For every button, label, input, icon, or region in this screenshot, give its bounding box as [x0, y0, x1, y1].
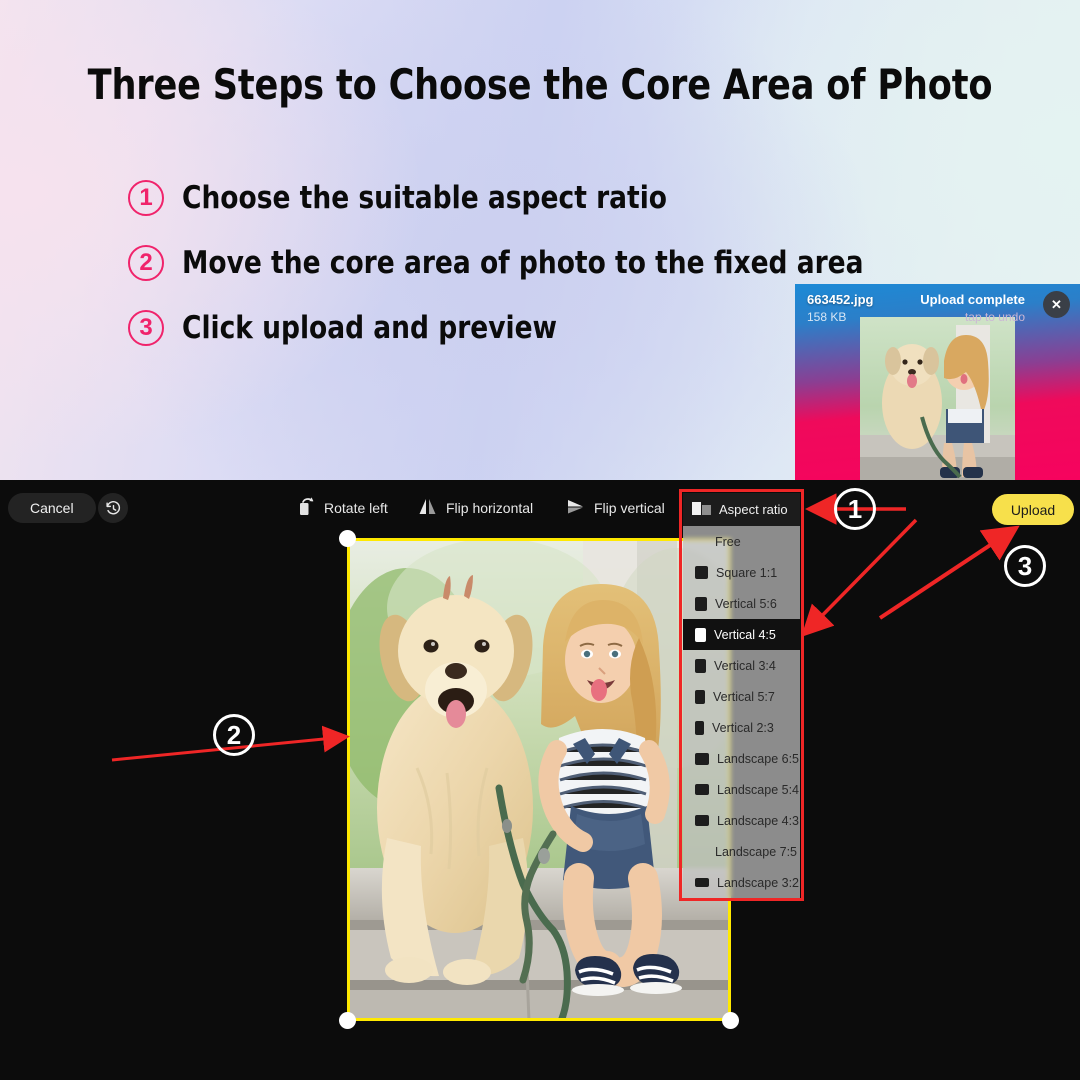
step-text: Move the core area of photo to the fixed…	[182, 245, 864, 281]
aspect-ratio-option[interactable]: Landscape 3:2	[683, 867, 800, 898]
flip-horizontal-button[interactable]: Flip horizontal	[418, 493, 533, 523]
step-text: Click upload and preview	[182, 310, 557, 346]
upload-filesize: 158 KB	[807, 310, 846, 324]
aspect-ratio-option[interactable]: Vertical 4:5	[683, 619, 800, 650]
aspect-ratio-icon	[692, 501, 711, 519]
aspect-ratio-option-label: Vertical 4:5	[714, 628, 776, 642]
instruction-step-1: 1 Choose the suitable aspect ratio	[128, 180, 693, 216]
instruction-step-2: 2 Move the core area of photo to the fix…	[128, 245, 899, 281]
aspect-ratio-option[interactable]: Landscape 4:3	[683, 805, 800, 836]
flip-horizontal-icon	[418, 497, 437, 519]
upload-status-text: Upload complete	[920, 292, 1025, 307]
aspect-ratio-option[interactable]: Landscape 7:5	[683, 836, 800, 867]
upload-preview-card[interactable]: 663452.jpg 158 KB Upload complete tap to…	[795, 284, 1080, 480]
aspect-ratio-shape-icon	[695, 784, 709, 795]
flip-vertical-icon	[566, 497, 585, 519]
aspect-ratio-option-label: Square 1:1	[716, 566, 777, 580]
crop-handle-top-left[interactable]	[339, 530, 356, 547]
aspect-ratio-shape-icon	[695, 753, 709, 765]
crop-handle-bottom-left[interactable]	[339, 1012, 356, 1029]
crop-area[interactable]	[347, 538, 731, 1021]
flip-vertical-button[interactable]: Flip vertical	[566, 493, 665, 523]
aspect-ratio-button-label: Aspect ratio	[719, 502, 788, 517]
rotate-left-button[interactable]: Rotate left	[298, 493, 388, 523]
aspect-ratio-button[interactable]: Aspect ratio	[683, 493, 800, 526]
cancel-button[interactable]: Cancel	[8, 493, 96, 523]
upload-preview-thumbnail	[860, 317, 1015, 480]
aspect-ratio-option-label: Vertical 2:3	[712, 721, 774, 735]
editor-toolbar: Cancel Rotate left	[0, 480, 1080, 536]
aspect-ratio-option[interactable]: Vertical 2:3	[683, 712, 800, 743]
aspect-ratio-option-label: Landscape 3:2	[717, 876, 799, 890]
step-number-badge: 3	[128, 310, 164, 346]
aspect-ratio-option-label: Landscape 7:5	[715, 845, 797, 859]
page-title: Three Steps to Choose the Core Area of P…	[38, 60, 1042, 109]
aspect-ratio-option[interactable]: Landscape 6:5	[683, 743, 800, 774]
aspect-ratio-option-label: Vertical 5:6	[715, 597, 777, 611]
aspect-ratio-option[interactable]: Vertical 3:4	[683, 650, 800, 681]
step-text: Choose the suitable aspect ratio	[182, 180, 667, 216]
upload-undo-hint[interactable]: tap to undo	[965, 310, 1025, 324]
aspect-ratio-option[interactable]: Vertical 5:7	[683, 681, 800, 712]
upload-filename: 663452.jpg	[807, 292, 874, 307]
aspect-ratio-option-label: Landscape 5:4	[717, 783, 799, 797]
aspect-ratio-shape-icon	[695, 659, 706, 673]
aspect-ratio-shape-icon	[695, 721, 704, 735]
aspect-ratio-shape-icon	[695, 878, 709, 887]
aspect-ratio-option-label: Landscape 6:5	[717, 752, 799, 766]
instructions-panel: Three Steps to Choose the Core Area of P…	[0, 0, 1080, 480]
photo-canvas	[347, 538, 731, 1021]
aspect-ratio-option-label: Landscape 4:3	[717, 814, 799, 828]
aspect-ratio-shape-icon	[695, 597, 707, 611]
aspect-ratio-shape-icon	[695, 690, 705, 704]
crop-handle-bottom-right[interactable]	[722, 1012, 739, 1029]
tool-label: Flip vertical	[594, 500, 665, 516]
history-revert-icon[interactable]	[98, 493, 128, 523]
aspect-ratio-shape-icon	[695, 628, 706, 642]
aspect-ratio-shape-icon	[695, 566, 708, 579]
aspect-ratio-option[interactable]: Landscape 5:4	[683, 774, 800, 805]
aspect-ratio-option[interactable]: Free	[683, 526, 800, 557]
upload-button[interactable]: Upload	[992, 494, 1074, 525]
tool-label: Flip horizontal	[446, 500, 533, 516]
close-icon[interactable]: ✕	[1043, 291, 1070, 318]
step-number-badge: 1	[128, 180, 164, 216]
aspect-ratio-menu[interactable]: FreeSquare 1:1Vertical 5:6Vertical 4:5Ve…	[683, 526, 800, 898]
step-number-badge: 2	[128, 245, 164, 281]
instruction-step-3: 3 Click upload and preview	[128, 310, 577, 346]
aspect-ratio-option[interactable]: Square 1:1	[683, 557, 800, 588]
tool-label: Rotate left	[324, 500, 388, 516]
aspect-ratio-option-label: Vertical 3:4	[714, 659, 776, 673]
aspect-ratio-option[interactable]: Vertical 5:6	[683, 588, 800, 619]
infographic-page: Three Steps to Choose the Core Area of P…	[0, 0, 1080, 1080]
aspect-ratio-option-label: Vertical 5:7	[713, 690, 775, 704]
rotate-left-icon	[298, 497, 315, 519]
aspect-ratio-option-label: Free	[715, 535, 741, 549]
aspect-ratio-shape-icon	[695, 815, 709, 826]
